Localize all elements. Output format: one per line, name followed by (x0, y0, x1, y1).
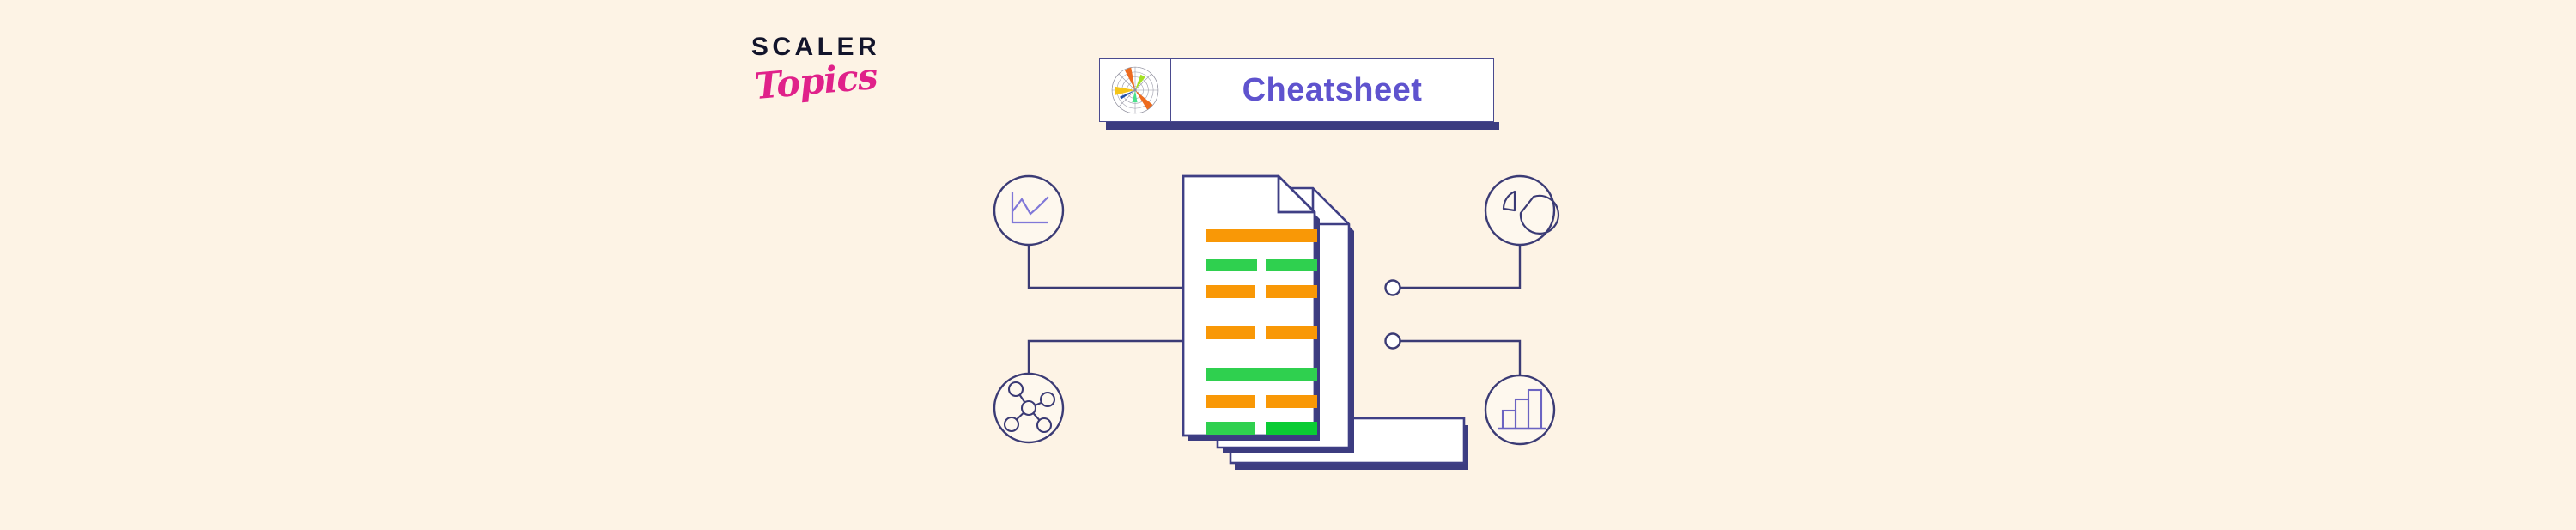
connector-line-bar-chart (1394, 341, 1520, 375)
feature-line-chart[interactable] (994, 176, 1063, 245)
feature-circle-pie-chart[interactable] (1485, 176, 1554, 245)
banner-box: Cheatsheet (1099, 58, 1494, 122)
feature-pie-chart[interactable] (1485, 176, 1558, 245)
content-bar (1206, 422, 1255, 435)
banner-title-cell: Cheatsheet (1171, 59, 1493, 121)
feature-bar-chart[interactable] (1485, 375, 1554, 444)
content-bar (1266, 326, 1317, 339)
connector-dot-bar-chart (1386, 334, 1400, 349)
document-and-features-diagram (987, 150, 1606, 520)
feature-circle-bar-chart[interactable] (1485, 375, 1554, 444)
content-bar (1266, 285, 1317, 298)
illustration-canvas: SCALER Topics (0, 0, 2576, 530)
connector-line-line-chart (1029, 265, 1202, 288)
content-bar (1266, 395, 1317, 408)
page-title: Cheatsheet (1242, 74, 1423, 107)
scaler-topics-logo: SCALER Topics (734, 34, 897, 125)
content-bar (1206, 326, 1255, 339)
cheatsheet-banner: Cheatsheet (1099, 58, 1496, 125)
content-bar (1206, 368, 1317, 381)
logo-word-topics: Topics (733, 57, 899, 107)
content-bar (1266, 259, 1317, 271)
connector-line-pie-chart (1394, 245, 1520, 288)
content-bar (1206, 285, 1255, 298)
content-bar (1266, 422, 1317, 435)
connector-line-network-graph (1029, 341, 1202, 374)
content-bar (1206, 259, 1257, 271)
content-bar (1206, 395, 1255, 408)
connector-dot-pie-chart (1386, 281, 1400, 295)
banner-icon-cell (1100, 59, 1171, 121)
content-bar (1206, 229, 1317, 242)
polar-rose-chart-icon (1108, 63, 1163, 118)
banner-shadow (1106, 122, 1499, 130)
feature-network-graph[interactable] (994, 374, 1063, 442)
